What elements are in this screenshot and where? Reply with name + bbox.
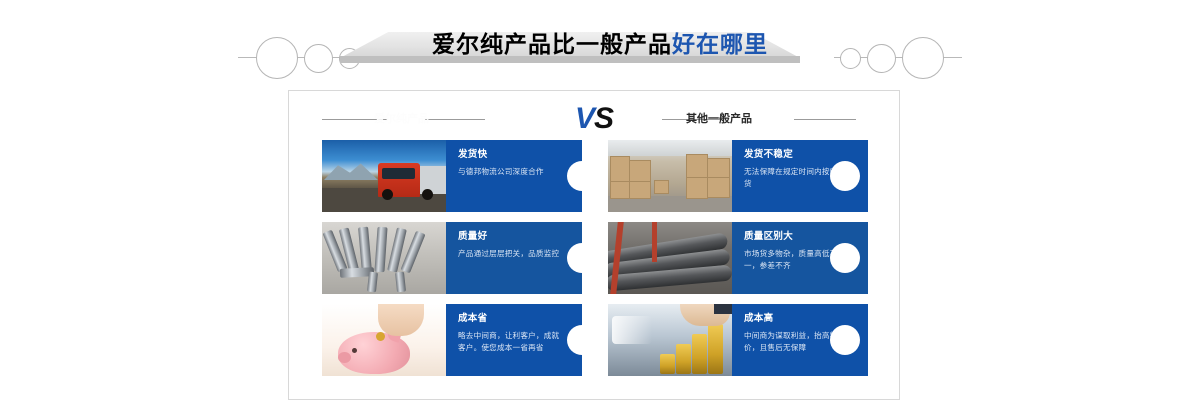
pipes-image	[608, 222, 732, 294]
disadvantage-card[interactable]: 发货不稳定 无法保障在规定时间内按时收货	[608, 140, 868, 212]
card-notch	[830, 325, 860, 355]
card-desc: 与德邦物流公司深度合作	[458, 166, 566, 178]
page-title-main: 爱尔纯产品比一般产品	[432, 31, 672, 57]
card-notch	[830, 243, 860, 273]
card-panel: 成本高 中间商为谋取利益，抬高物价，且售后无保障	[732, 304, 868, 376]
card-title: 质量区别大	[744, 231, 858, 243]
versus-s: S	[594, 102, 613, 135]
card-title: 成本高	[744, 313, 858, 325]
versus-v: V	[575, 102, 594, 135]
card-thumbnail	[322, 140, 446, 212]
card-panel: 质量区别大 市场货多物杂，质量高低不一，参差不齐	[732, 222, 868, 294]
card-title: 成本省	[458, 313, 572, 325]
card-panel: 发货快 与德邦物流公司深度合作	[446, 140, 582, 212]
warehouse-image	[608, 140, 732, 212]
card-thumbnail	[322, 304, 446, 376]
card-title: 质量好	[458, 231, 572, 243]
advantage-card[interactable]: 成本省 略去中间商，让利客户，成就客户。使您成本一省再省	[322, 304, 582, 376]
disadvantage-card[interactable]: 质量区别大 市场货多物杂，质量高低不一，参差不齐	[608, 222, 868, 294]
card-panel: 发货不稳定 无法保障在规定时间内按时收货	[732, 140, 868, 212]
card-thumbnail	[608, 222, 732, 294]
metal-cylinders-image	[322, 222, 446, 294]
card-desc: 略去中间商，让利客户，成就客户。使您成本一省再省	[458, 330, 566, 353]
card-panel: 质量好 产品通过层层把关，品质监控	[446, 222, 582, 294]
advantage-card[interactable]: 质量好 产品通过层层把关，品质监控	[322, 222, 582, 294]
advantage-card[interactable]: 发货快 与德邦物流公司深度合作	[322, 140, 582, 212]
other-product-column: 发货不稳定 无法保障在规定时间内按时收货 质量区别大 市场货多物杂，质量高低不一…	[608, 140, 868, 386]
card-notch	[830, 161, 860, 191]
gold-coins-image	[608, 304, 732, 376]
card-title: 发货快	[458, 149, 572, 161]
piggy-bank-image	[322, 304, 446, 376]
card-notch	[567, 243, 582, 273]
card-desc: 产品通过层层把关，品质监控	[458, 248, 566, 260]
card-thumbnail	[322, 222, 446, 294]
card-notch	[567, 325, 582, 355]
card-thumbnail	[608, 140, 732, 212]
page-title: 爱尔纯产品比一般产品好在哪里	[0, 25, 1200, 59]
our-product-column: 发货快 与德邦物流公司深度合作 质量好 产品通过层层把关，品质监控 成本省 略去…	[322, 140, 582, 386]
versus-text: VS	[288, 98, 900, 140]
disadvantage-card[interactable]: 成本高 中间商为谋取利益，抬高物价，且售后无保障	[608, 304, 868, 376]
card-thumbnail	[608, 304, 732, 376]
page-header: 爱尔纯产品比一般产品好在哪里	[0, 0, 1200, 82]
card-panel: 成本省 略去中间商，让利客户，成就客户。使您成本一省再省	[446, 304, 582, 376]
versus-bar: 爱尔纯产品 其他一般产品 VS	[288, 98, 900, 140]
card-title: 发货不稳定	[744, 149, 858, 161]
card-notch	[567, 161, 582, 191]
page-title-accent: 好在哪里	[672, 31, 768, 57]
truck-image	[322, 140, 446, 212]
